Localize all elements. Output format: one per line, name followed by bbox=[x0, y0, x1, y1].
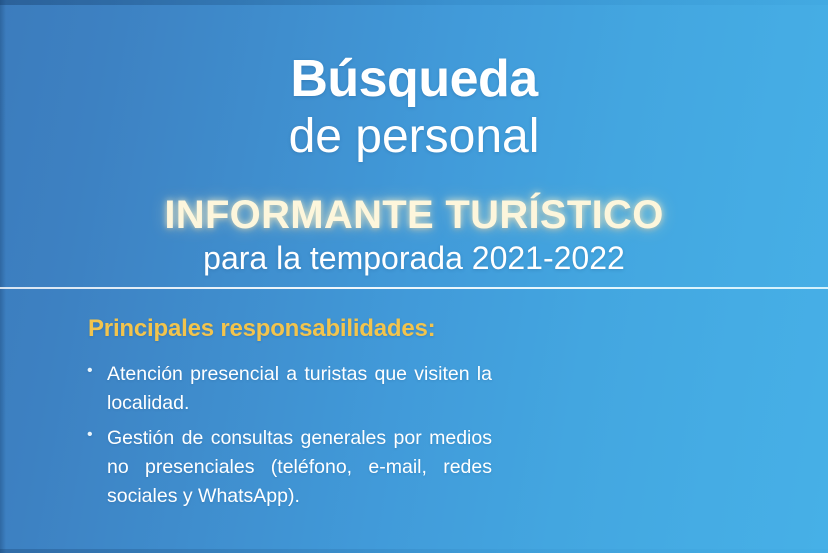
poster-content: Principales responsabilidades: Atención … bbox=[0, 289, 828, 553]
poster-header: Búsqueda de personal INFORMANTE TURÍSTIC… bbox=[0, 0, 828, 288]
list-item: Gestión de consultas generales por medio… bbox=[82, 424, 492, 510]
page-subtitle: de personal bbox=[0, 107, 828, 163]
page-title: Búsqueda bbox=[0, 0, 828, 107]
job-role-title: INFORMANTE TURÍSTICO bbox=[0, 162, 828, 236]
list-item: Atención presencial a turistas que visit… bbox=[82, 360, 492, 417]
season-label: para la temporada 2021-2022 bbox=[0, 236, 828, 276]
responsibilities-heading: Principales responsabilidades: bbox=[88, 315, 435, 343]
responsibilities-list: Atención presencial a turistas que visit… bbox=[82, 360, 492, 510]
recruitment-poster: Búsqueda de personal INFORMANTE TURÍSTIC… bbox=[0, 0, 828, 553]
